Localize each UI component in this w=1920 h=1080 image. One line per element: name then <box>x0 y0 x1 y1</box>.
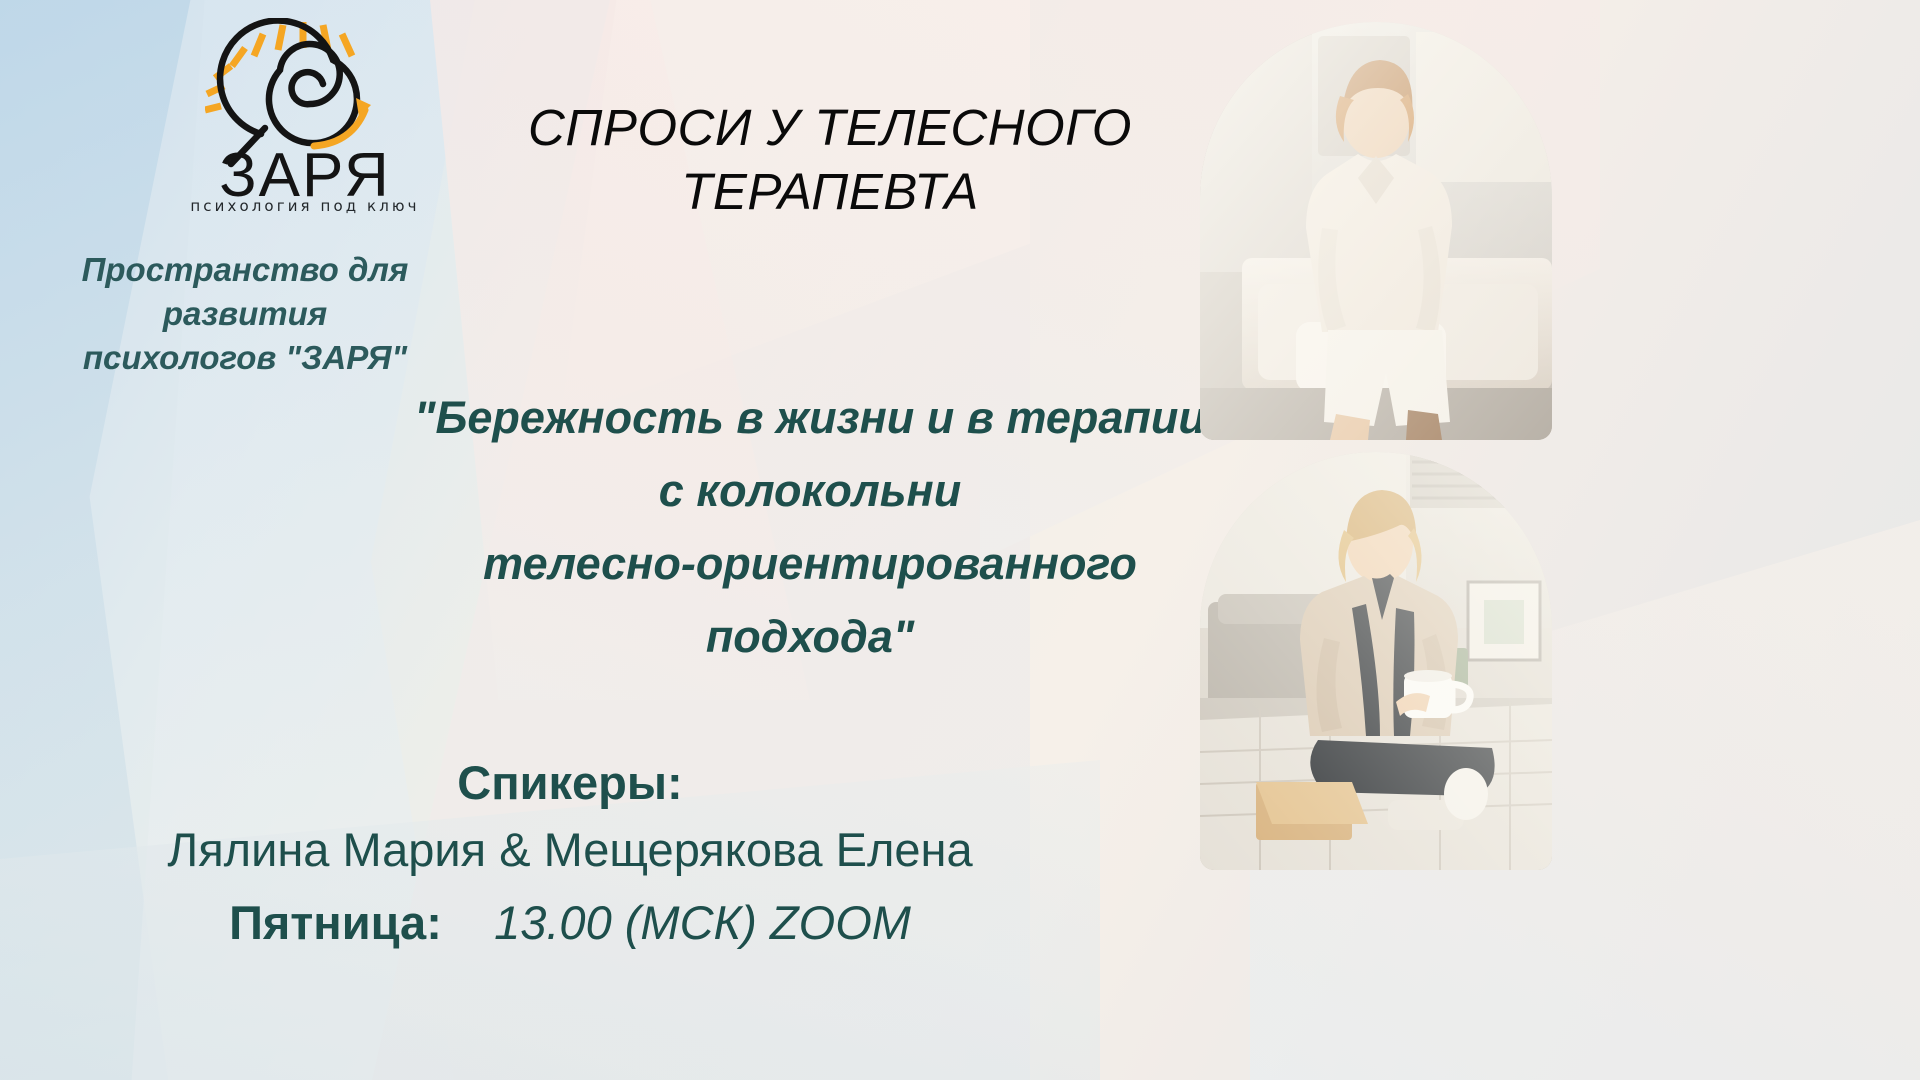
topic-line-2: с колокольни <box>400 455 1220 528</box>
organization-subtitle: Пространство для развития психологов "ЗА… <box>10 248 480 381</box>
event-title: СПРОСИ У ТЕЛЕСНОГО ТЕРАПЕВТА <box>520 96 1140 224</box>
speaker-photo-bottom-image <box>1200 452 1552 870</box>
event-title-line-1: СПРОСИ У ТЕЛЕСНОГО <box>520 96 1140 160</box>
schedule-line: Пятница: 13.00 (МСК) ZOOM <box>120 887 1020 960</box>
speakers-label: Спикеры: <box>120 752 1020 814</box>
speaker-photo-top-image <box>1200 22 1552 440</box>
slide-canvas: ЗАРЯ психология под ключ Пространство дл… <box>0 0 1920 1080</box>
organization-subtitle-line-1: Пространство для развития <box>10 248 480 336</box>
speaker-photo-bottom <box>1200 452 1552 870</box>
brand-tagline: психология под ключ <box>140 197 470 215</box>
schedule-day: Пятница: <box>229 896 442 949</box>
event-topic-quote: "Бережность в жизни и в терапии с колоко… <box>400 382 1220 674</box>
logo-wordmark: ЗАРЯ <box>219 141 391 203</box>
speaker-photo-top <box>1200 22 1552 440</box>
topic-line-1: "Бережность в жизни и в терапии <box>400 382 1220 455</box>
speakers-section: Спикеры: Лялина Мария & Мещерякова Елена… <box>120 752 1020 960</box>
organization-subtitle-line-2: психологов "ЗАРЯ" <box>10 336 480 380</box>
brand-logo: ЗАРЯ психология под ключ <box>140 18 470 215</box>
event-title-line-2: ТЕРАПЕВТА <box>520 160 1140 224</box>
topic-line-3: телесно-ориентированного <box>400 528 1220 601</box>
topic-line-4: подхода" <box>400 601 1220 674</box>
spiral-sun-logo-icon: ЗАРЯ <box>205 18 405 203</box>
speakers-names: Лялина Мария & Мещерякова Елена <box>120 814 1020 887</box>
schedule-time: 13.00 (МСК) ZOOM <box>494 896 911 949</box>
